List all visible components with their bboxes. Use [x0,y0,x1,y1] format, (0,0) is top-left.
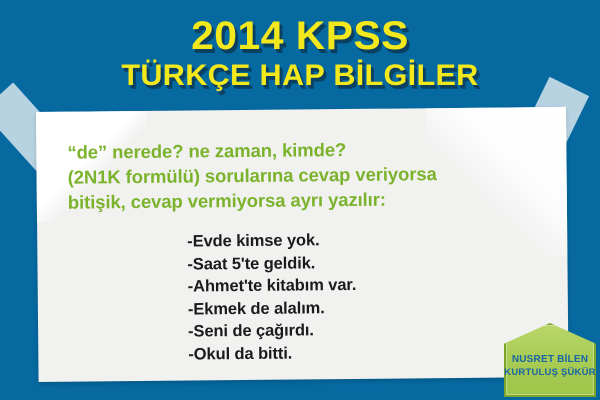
paper-sheet: “de” nerede? ne zaman, kimde? (2N1K form… [36,107,569,382]
poster-title-block: 2014 KPSS TÜRKÇE HAP BİLGİLER [0,16,600,92]
badge-author-name-secondary: KURTULUŞ ŞÜKÜR [504,366,596,379]
paper-content: “de” nerede? ne zaman, kimde? (2N1K form… [36,107,569,382]
poster-title-main: 2014 KPSS [0,16,600,56]
rule-explanation-block: “de” nerede? ne zaman, kimde? (2N1K form… [67,135,548,215]
credit-badge: NUSRET BİLEN KURTULUŞ ŞÜKÜR [504,323,596,397]
poster-canvas: 2014 KPSS TÜRKÇE HAP BİLGİLER “de” nered… [0,0,600,400]
badge-author-name-primary: NUSRET BİLEN [504,353,596,366]
poster-title-subtitle: TÜRKÇE HAP BİLGİLER [0,60,600,92]
example-sentence-item: -Okul da bitti. [188,340,548,366]
rule-explanation-line: bitişik, cevap vermiyorsa ayrı yazılır: [68,185,548,215]
example-sentences-block: -Evde kimse yok. -Saat 5'te geldik. -Ahm… [187,227,548,365]
badge-text-block: NUSRET BİLEN KURTULUŞ ŞÜKÜR [504,353,596,379]
